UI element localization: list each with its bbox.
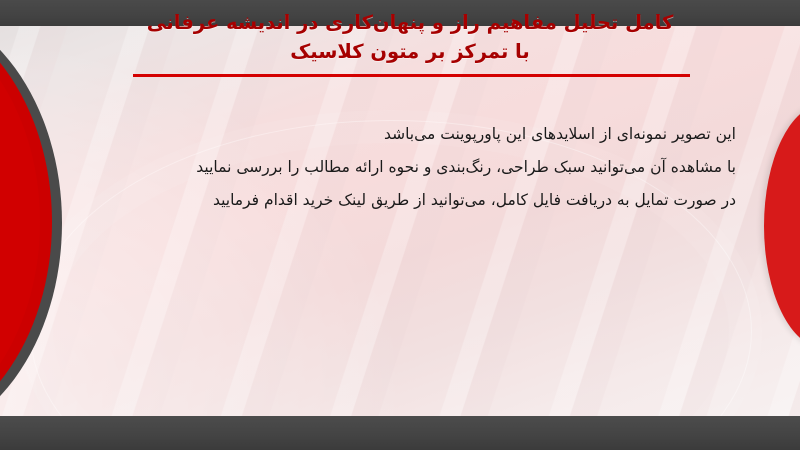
- slide-title: کامل تحلیل مفاهیم راز و پنهان‌کاری در ان…: [110, 8, 710, 66]
- body-line-3: در صورت تمایل به دریافت فایل کامل، می‌تو…: [76, 184, 736, 217]
- presentation-slide: کامل تحلیل مفاهیم راز و پنهان‌کاری در ان…: [0, 0, 800, 450]
- slide-title-line-2: با تمرکز بر متون کلاسیک: [110, 37, 710, 66]
- title-underline-rule: [133, 74, 690, 77]
- slide-title-line-1: کامل تحلیل مفاهیم راز و پنهان‌کاری در ان…: [110, 8, 710, 37]
- slide-body-text: این تصویر نمونه‌ای از اسلایدهای این پاور…: [76, 118, 736, 217]
- body-line-2: با مشاهده آن می‌توانید سبک طراحی، رنگ‌بن…: [76, 151, 736, 184]
- body-line-1: این تصویر نمونه‌ای از اسلایدهای این پاور…: [76, 118, 736, 151]
- slide-content-panel: [38, 10, 800, 430]
